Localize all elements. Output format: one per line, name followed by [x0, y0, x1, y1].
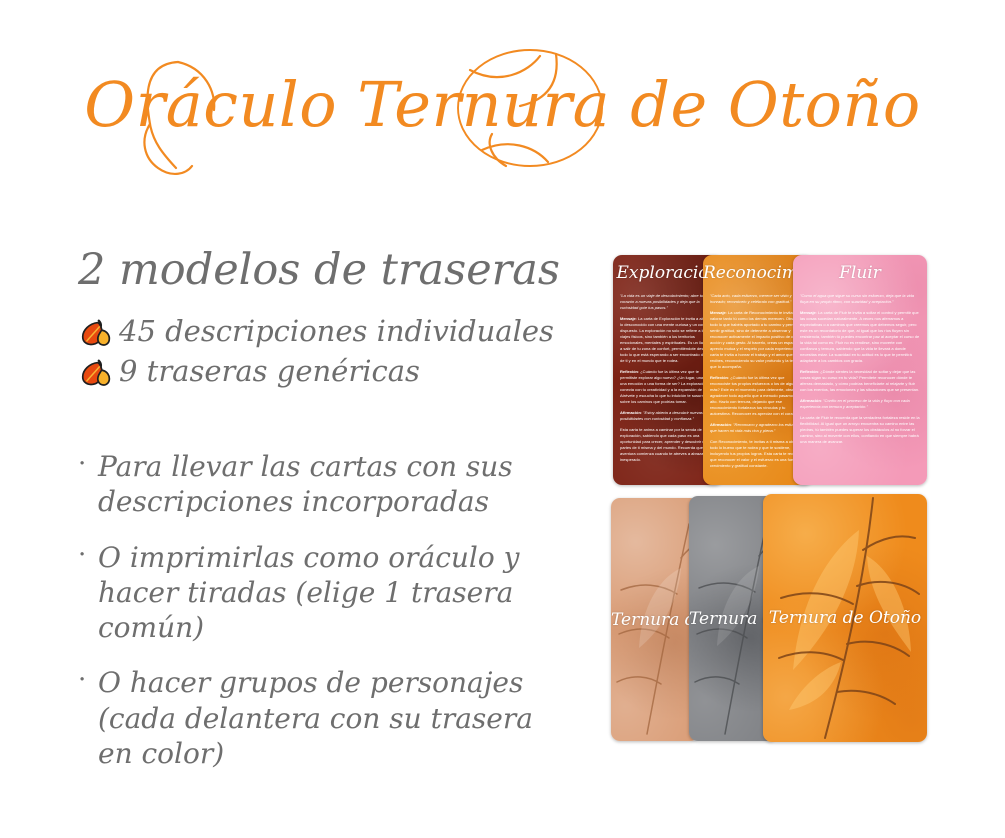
card-mensaje-text: : La carta de Exploración te invita a ab…	[620, 316, 714, 363]
card-closing-text: Esta carta te anima a caminar por la sen…	[620, 427, 716, 463]
card-back-terracota: Ternura de Otoño	[611, 498, 699, 741]
card-closing-text: Con Reconocimiento, te invitas a ti mism…	[710, 439, 806, 469]
card-back-naranja: Ternura de Otoño	[763, 494, 927, 742]
card-front-body: "Como el agua que sigue su curso sin esf…	[800, 293, 920, 480]
card-reflexion-text: : ¿Cuándo fue la última vez que reconoci…	[710, 375, 804, 416]
card-afirmacion-label: Afirmación	[620, 410, 641, 415]
title-block: Oráculo Ternura de Otoño	[0, 46, 1005, 176]
feature-label: 9 traseras genéricas	[119, 355, 420, 388]
card-back-title: Ternura de Otoño	[763, 608, 927, 628]
card-front-body: "La vida es un viaje de descubrimiento; …	[620, 293, 716, 480]
list-item: · Para llevar las cartas con sus descrip…	[78, 449, 578, 520]
card-reflexion-text: : ¿Cuándo fue la última vez que te permi…	[620, 369, 714, 404]
card-mensaje-text: : La carta de Reconocimiento te invita a…	[710, 310, 806, 369]
section-heading: 2 modelos de traseras	[78, 248, 578, 293]
card-reflexion-label: Reflexión	[620, 369, 638, 374]
card-quote: "La vida es un viaje de descubrimiento; …	[620, 293, 716, 311]
card-afirmacion-label: Afirmación	[710, 422, 731, 427]
card-front-fluir: Fluir "Como el agua que sigue su curso s…	[793, 255, 927, 485]
card-mensaje-label: Mensaje	[710, 310, 726, 315]
list-bullet: ·	[78, 540, 94, 572]
list-item: · O hacer grupos de personajes (cada del…	[78, 665, 578, 771]
card-front-title: Fluir	[793, 263, 927, 283]
card-reflexion-label: Reflexión	[800, 369, 818, 374]
list-bullet: ·	[78, 449, 94, 481]
feature-label: 45 descripciones individuales	[119, 315, 554, 348]
fallen-leaf-icon	[78, 355, 112, 389]
card-mensaje-text: : La carta de Fluir te invita a soltar e…	[800, 310, 919, 363]
card-closing-text: La carta de Fluir te recuerda que la ver…	[800, 415, 920, 445]
list-bullet: ·	[78, 665, 94, 697]
card-quote: "Cada acto, cada esfuerzo, merece ser vi…	[710, 293, 806, 305]
fallen-leaf-icon	[78, 315, 112, 349]
page-title: Oráculo Ternura de Otoño	[0, 68, 1005, 141]
card-quote: "Como el agua que sigue su curso sin esf…	[800, 293, 920, 305]
list-item-label: O imprimirlas como oráculo y hacer tirad…	[98, 540, 558, 646]
card-back-title: Ternura de Otoño	[611, 610, 699, 630]
feature-item-backs: 9 traseras genéricas	[78, 355, 578, 389]
list-item: · O imprimirlas como oráculo y hacer tir…	[78, 540, 578, 646]
card-fronts-group: Exploración "La vida es un viaje de desc…	[605, 250, 935, 490]
left-content-column: 2 modelos de traseras 45 descripciones i…	[78, 248, 578, 791]
list-item-label: O hacer grupos de personajes (cada delan…	[98, 665, 558, 771]
card-afirmacion-label: Afirmación	[800, 398, 821, 403]
usage-list: · Para llevar las cartas con sus descrip…	[78, 449, 578, 771]
card-backs-group: Ternura de Otoño Ternura de Otoño	[605, 492, 935, 748]
feature-item-descriptions: 45 descripciones individuales	[78, 315, 578, 349]
card-mensaje-label: Mensaje	[800, 310, 816, 315]
card-reflexion-text: : ¿Dónde sientes la necesidad de soltar …	[800, 369, 919, 392]
card-reflexion-label: Reflexión	[710, 375, 728, 380]
card-mensaje-label: Mensaje	[620, 316, 636, 321]
card-front-body: "Cada acto, cada esfuerzo, merece ser vi…	[710, 293, 806, 480]
list-item-label: Para llevar las cartas con sus descripci…	[98, 449, 558, 520]
